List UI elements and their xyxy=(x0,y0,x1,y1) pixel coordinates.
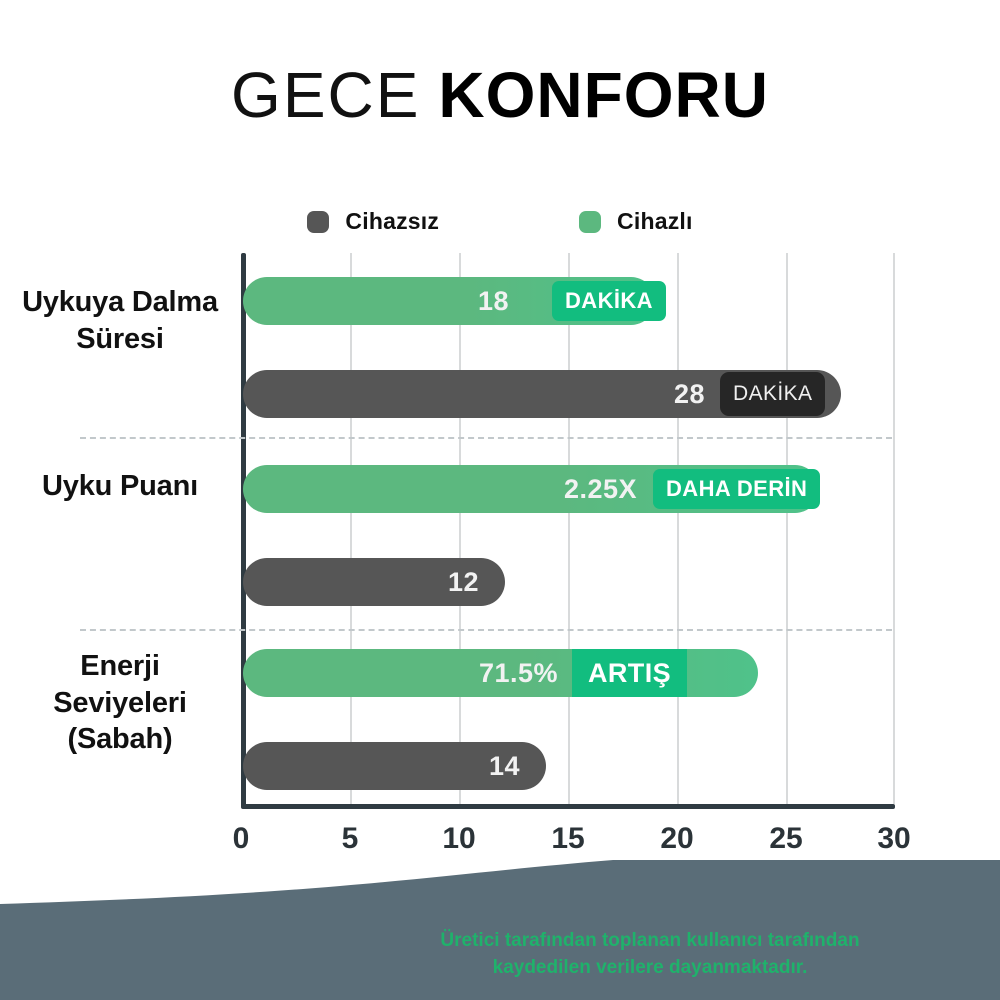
bar-cihazsiz-enerji-seviyeleri[interactable]: 14 xyxy=(243,742,546,790)
legend-label-cihazli: Cihazlı xyxy=(617,208,693,235)
x-tick-20: 20 xyxy=(647,822,707,856)
bar-value-label: 28 xyxy=(674,379,705,410)
bar-value-label: 14 xyxy=(489,751,520,782)
group-separator-1 xyxy=(80,437,892,439)
bar-value-label: 2.25X xyxy=(564,474,637,505)
legend-item-cihazli[interactable]: Cihazlı xyxy=(579,208,693,235)
x-tick-0: 0 xyxy=(211,822,271,856)
x-tick-25: 25 xyxy=(756,822,816,856)
gridline-25 xyxy=(786,253,788,804)
badge-artis: ARTIŞ xyxy=(572,649,687,697)
gridline-10 xyxy=(459,253,461,804)
badge-dakika-cihazsiz: DAKİKA xyxy=(720,372,825,416)
legend-dot-icon xyxy=(579,211,601,233)
x-axis-line xyxy=(241,804,895,809)
x-tick-15: 15 xyxy=(538,822,598,856)
gridline-20 xyxy=(677,253,679,804)
title-light-part: GECE xyxy=(231,59,420,131)
y-axis-line xyxy=(241,253,246,808)
chart-legend: Cihazsız Cihazlı xyxy=(0,208,1000,235)
page-title: GECEKONFORU xyxy=(0,58,1000,132)
gridline-5 xyxy=(350,253,352,804)
x-tick-10: 10 xyxy=(429,822,489,856)
footer-line-1: Üretici tarafından toplanan kullanıcı ta… xyxy=(330,927,970,955)
legend-item-cihazsiz[interactable]: Cihazsız xyxy=(307,208,439,235)
x-tick-30: 30 xyxy=(864,822,924,856)
title-bold-part: KONFORU xyxy=(438,59,769,131)
footer-line-2: kaydedilen verilere dayanmaktadır. xyxy=(330,954,970,982)
category-label-enerji-seviyeleri: Enerji Seviyeleri (Sabah) xyxy=(10,648,230,758)
gridline-15 xyxy=(568,253,570,804)
chart-plot-area: 18 DAKİKA 28 DAKİKA 2.25X DAHA DERİN 12 … xyxy=(241,253,895,808)
bar-value-label: 71.5% xyxy=(479,658,558,689)
footer-disclaimer: Üretici tarafından toplanan kullanıcı ta… xyxy=(330,927,970,982)
gridline-30 xyxy=(893,253,895,804)
group-separator-2 xyxy=(80,629,892,631)
bar-value-label: 12 xyxy=(448,567,479,598)
x-tick-5: 5 xyxy=(320,822,380,856)
category-label-uykuya-dalma-suresi: Uykuya Dalma Süresi xyxy=(10,284,230,357)
badge-daha-derin: DAHA DERİN xyxy=(653,469,820,509)
category-label-uyku-puani: Uyku Puanı xyxy=(10,468,230,505)
legend-dot-icon xyxy=(307,211,329,233)
badge-dakika-cihazli: DAKİKA xyxy=(552,281,666,321)
bar-cihazsiz-uyku-puani[interactable]: 12 xyxy=(243,558,505,606)
bar-value-label: 18 xyxy=(478,286,509,317)
legend-label-cihazsiz: Cihazsız xyxy=(345,208,439,235)
